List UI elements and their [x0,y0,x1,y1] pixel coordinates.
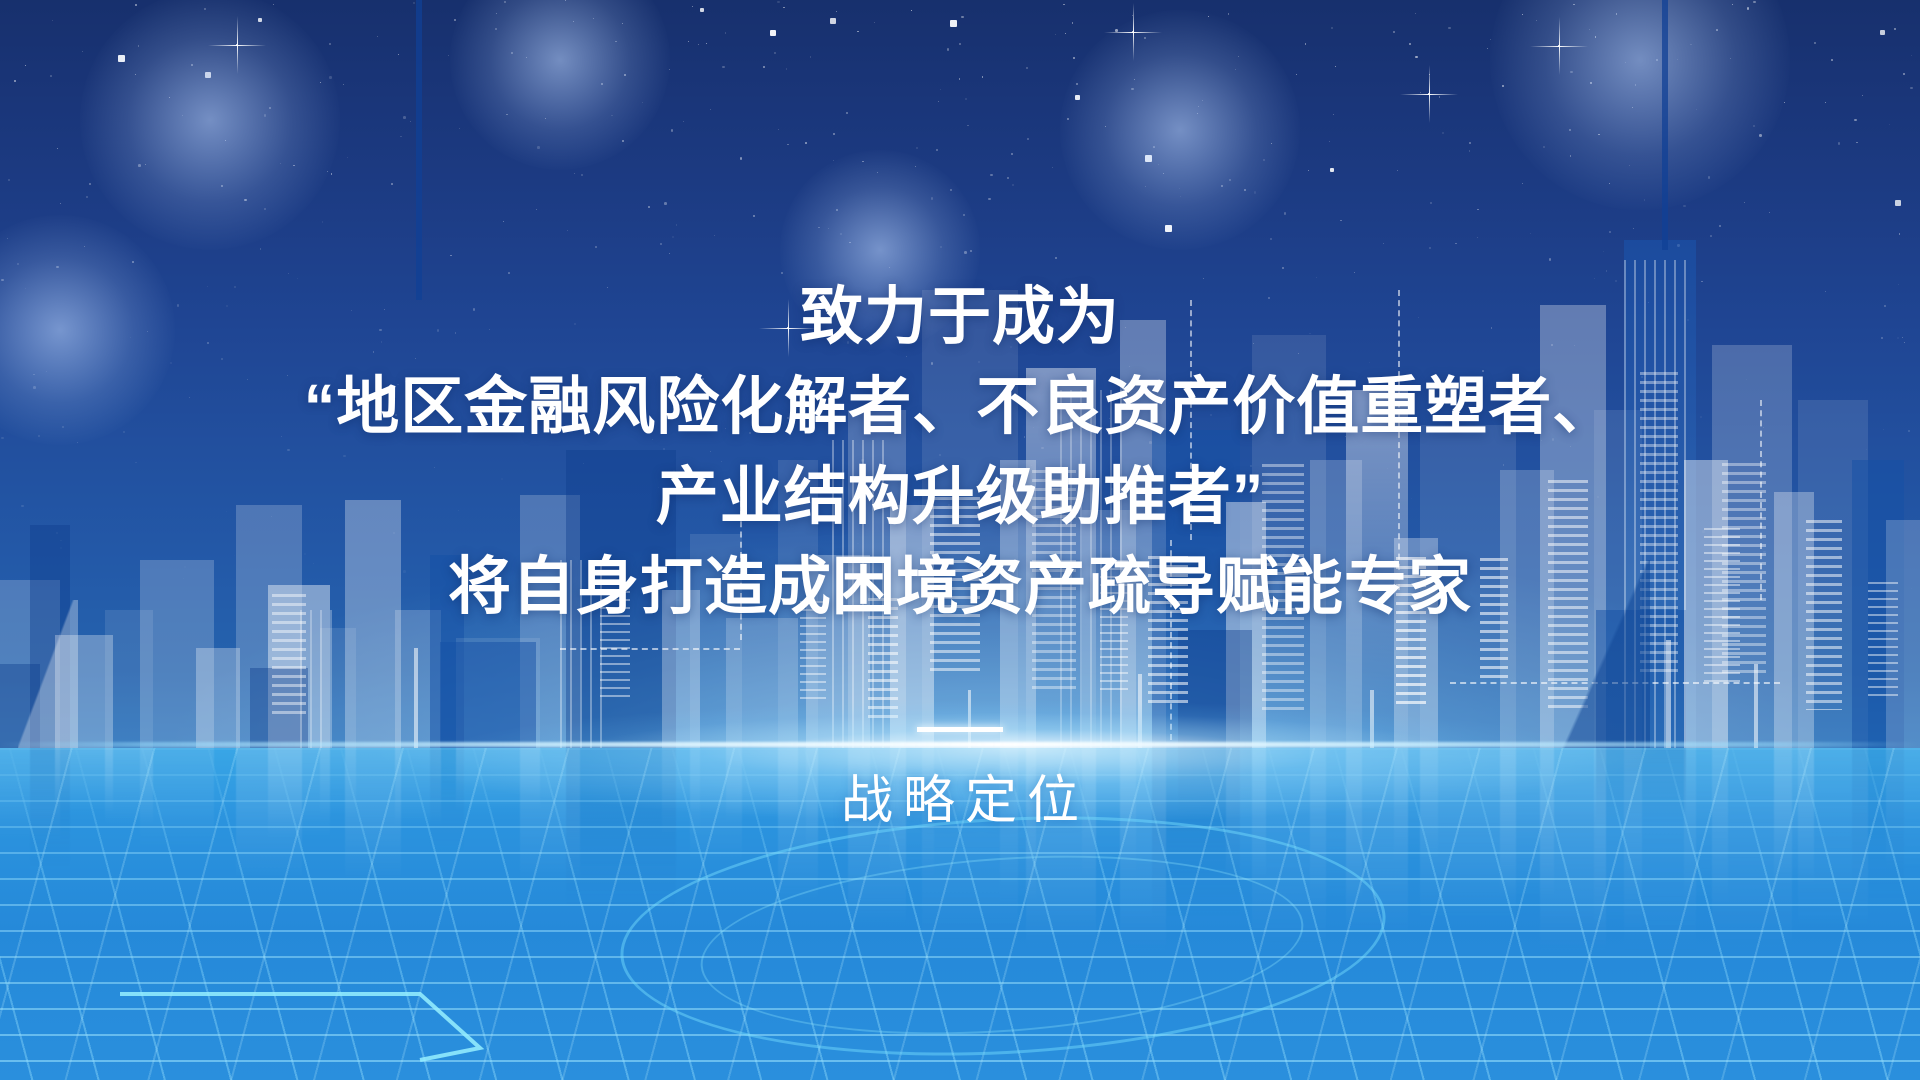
headline-line-4: 将自身打造成困境资产疏导赋能专家 [0,542,1920,632]
headline-line-2: “地区金融风险化解者、不良资产价值重塑者、 [0,362,1920,452]
headline-block: 致力于成为 “地区金融风险化解者、不良资产价值重塑者、 产业结构升级助推者” 将… [0,272,1920,632]
slide-canvas: 致力于成为 “地区金融风险化解者、不良资产价值重塑者、 产业结构升级助推者” 将… [0,0,1920,1080]
slide-content: 致力于成为 “地区金融风险化解者、不良资产价值重塑者、 产业结构升级助推者” 将… [0,0,1920,1080]
title-divider [917,727,1003,732]
subtitle-label: 战略定位 [0,758,1920,833]
headline-line-3: 产业结构升级助推者” [0,452,1920,542]
headline-line-1: 致力于成为 [0,272,1920,362]
